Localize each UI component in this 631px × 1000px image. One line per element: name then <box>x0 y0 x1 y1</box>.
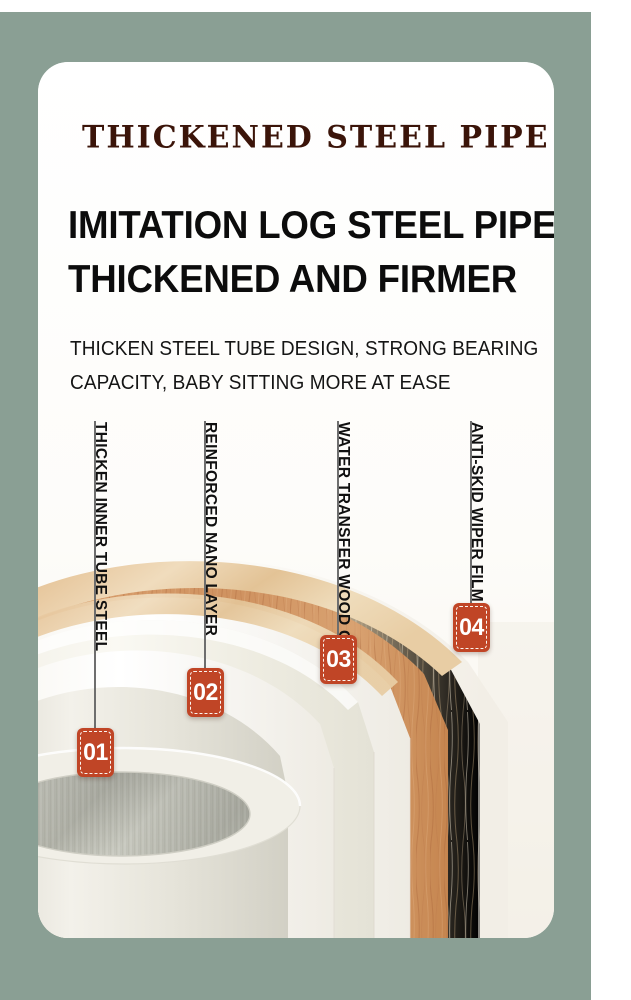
headline-line-2: THICKENED AND FIRMER <box>68 253 510 307</box>
page-root: THICKENED STEEL PIPE IMITATION LOG STEEL… <box>0 0 631 1000</box>
callout-01-label: THICKEN INNER TUBE STEEL <box>91 422 109 651</box>
callout-04-label: ANTI-SKID WIPER FILM <box>467 422 485 602</box>
callout-02-number: 02 <box>188 668 224 717</box>
callout-04-number: 04 <box>454 603 490 652</box>
callout-03-number: 03 <box>321 635 357 684</box>
callout-01-number: 01 <box>78 728 114 777</box>
callout-02-badge: 02 <box>187 668 224 717</box>
callout-01-badge: 01 <box>77 728 114 777</box>
callout-04-badge: 04 <box>453 603 490 652</box>
subtitle-line-2: CAPACITY, BABY SITTING MORE AT EASE <box>70 366 517 400</box>
product-card: THICKENED STEEL PIPE IMITATION LOG STEEL… <box>38 62 554 938</box>
subtitle-line-1: THICKEN STEEL TUBE DESIGN, STRONG BEARIN… <box>70 332 517 366</box>
headline-line-1: IMITATION LOG STEEL PIPE <box>68 199 510 253</box>
callout-02-label: REINFORCED NANO LAYER <box>201 422 219 636</box>
eyebrow-title: THICKENED STEEL PIPE <box>82 120 522 156</box>
callout-03-badge: 03 <box>320 635 357 684</box>
